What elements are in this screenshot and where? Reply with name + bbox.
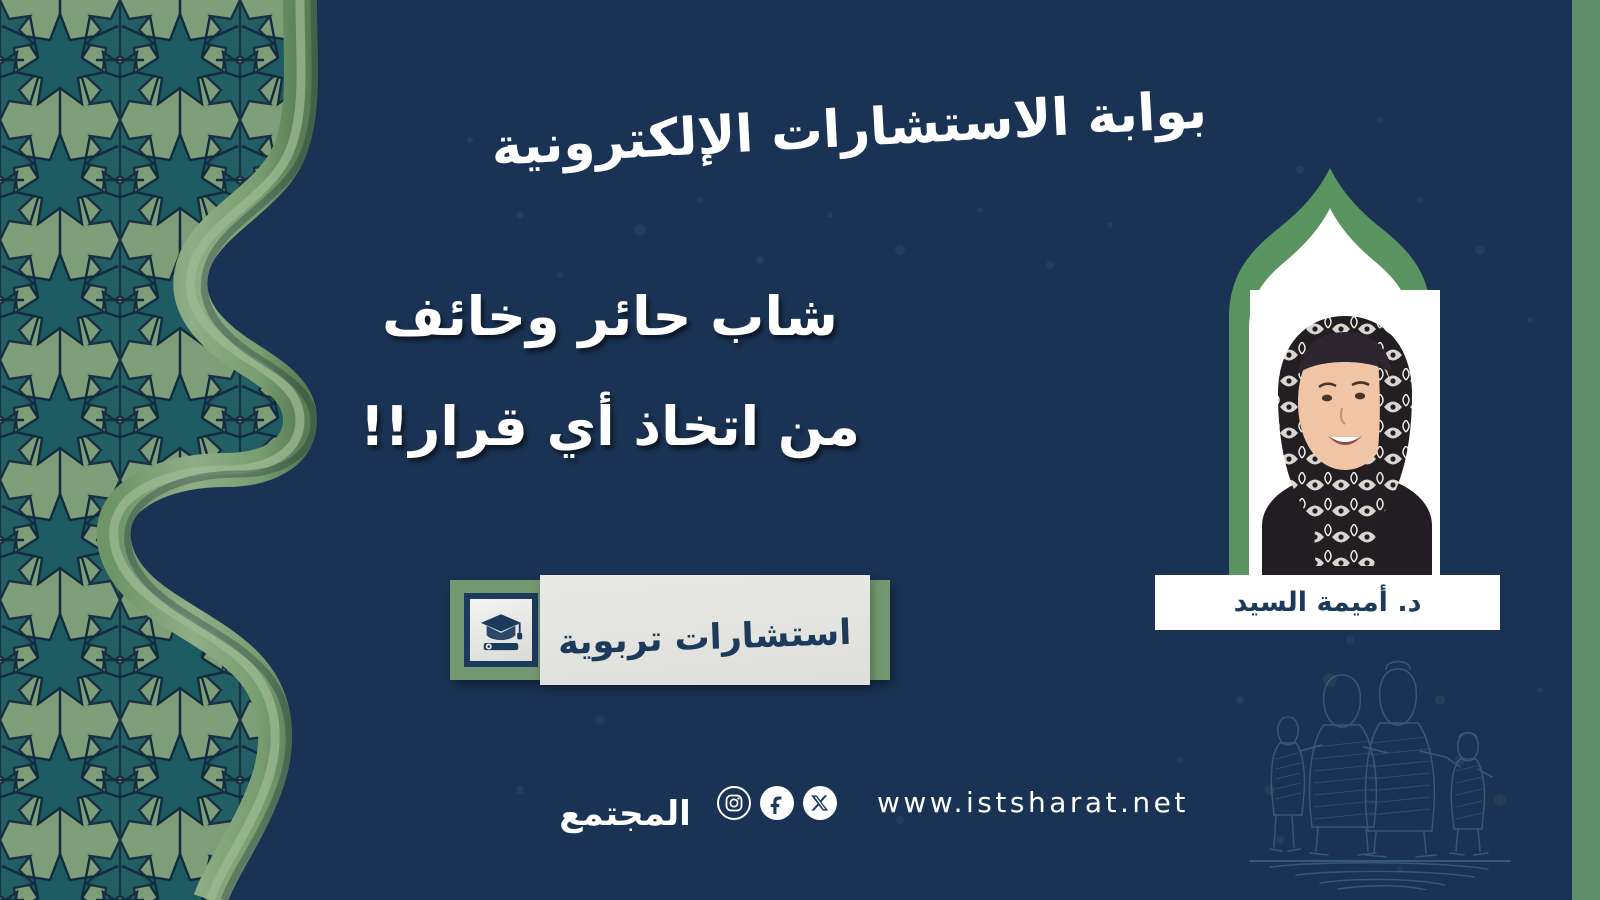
doctor-card: د. أميمة السيد	[1155, 160, 1500, 635]
title-line-2: من اتخاذ أي قرار!!	[300, 400, 920, 454]
doctor-name: د. أميمة السيد	[1234, 587, 1422, 618]
right-edge-strip	[1572, 0, 1600, 900]
website-url[interactable]: www.istsharat.net	[877, 786, 1189, 819]
footer-bar: المجتمع www.istsh	[555, 755, 1205, 850]
family-line-art	[1230, 655, 1530, 890]
badge-label-text: استشارات تربوية	[557, 613, 852, 663]
main-title: شاب حائر وخائف من اتخاذ أي قرار!!	[300, 290, 920, 454]
poster-canvas: بوابة الاستشارات الإلكترونية شاب حائر وخ…	[0, 0, 1600, 900]
brand-logo[interactable]: المجتمع	[555, 759, 695, 847]
doctor-name-plate: د. أميمة السيد	[1155, 575, 1500, 630]
instagram-icon[interactable]	[717, 786, 751, 820]
brand-logo-text: المجتمع	[559, 794, 691, 834]
header-calligraphy: بوابة الاستشارات الإلكترونية	[480, 34, 1220, 184]
graduation-cap-book-icon	[478, 607, 524, 653]
social-links	[717, 786, 837, 820]
doctor-portrait-photo	[1250, 290, 1440, 590]
badge-label-panel: استشارات تربوية	[540, 575, 870, 685]
badge-icon-surface	[470, 599, 532, 661]
header-calligraphy-text: بوابة الاستشارات الإلكترونية	[490, 80, 1208, 177]
title-line-1: شاب حائر وخائف	[300, 290, 920, 344]
category-badge[interactable]: استشارات تربوية	[450, 575, 890, 685]
badge-icon-frame	[464, 593, 538, 667]
x-twitter-icon[interactable]	[803, 786, 837, 820]
facebook-icon[interactable]	[760, 786, 794, 820]
